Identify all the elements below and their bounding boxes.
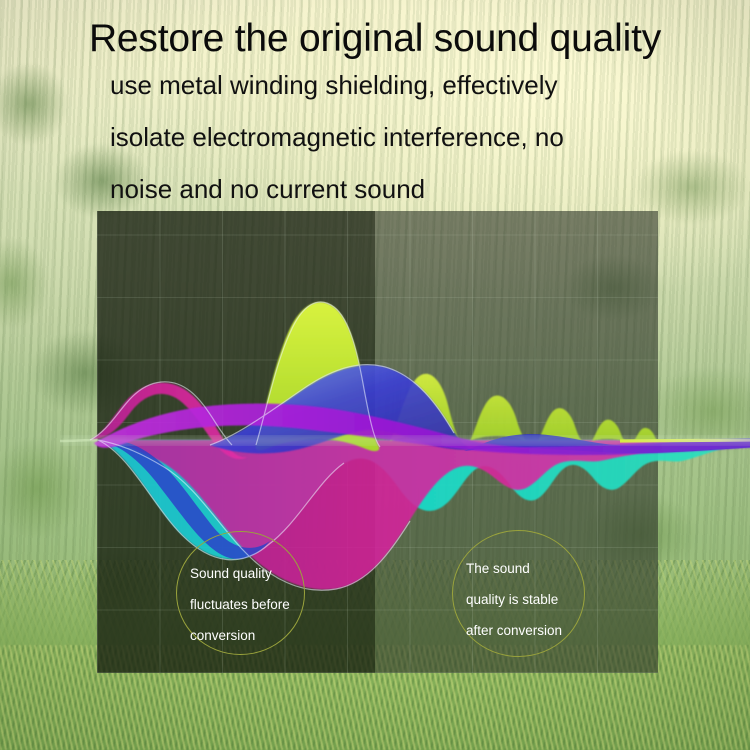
waveform-positive-lobes	[90, 302, 750, 459]
callout-before-line-2: fluctuates before	[190, 589, 290, 620]
callout-before-line-3: conversion	[190, 620, 290, 651]
subtitle-line-1: use metal winding shielding, effectively	[110, 70, 558, 100]
page-title: Restore the original sound quality	[0, 16, 750, 62]
callout-before-line-1: Sound quality	[190, 558, 290, 589]
wave-left-entry-line	[60, 440, 98, 441]
callout-after-line-1: The sound	[466, 553, 562, 584]
callout-text-before: Sound quality fluctuates before conversi…	[190, 558, 290, 651]
audio-waveform-chart	[60, 255, 750, 625]
banner-stage: Restore the original sound quality use m…	[0, 0, 750, 750]
callout-after-line-3: after conversion	[466, 615, 562, 646]
subtitle-line-2: isolate electromagnetic interference, no	[110, 122, 564, 152]
callout-text-after: The sound quality is stable after conver…	[466, 553, 562, 646]
callout-after-line-2: quality is stable	[466, 584, 562, 615]
subtitle-line-3: noise and no current sound	[110, 174, 425, 204]
wave-tail-line	[620, 440, 750, 441]
waveform-svg	[60, 255, 750, 625]
